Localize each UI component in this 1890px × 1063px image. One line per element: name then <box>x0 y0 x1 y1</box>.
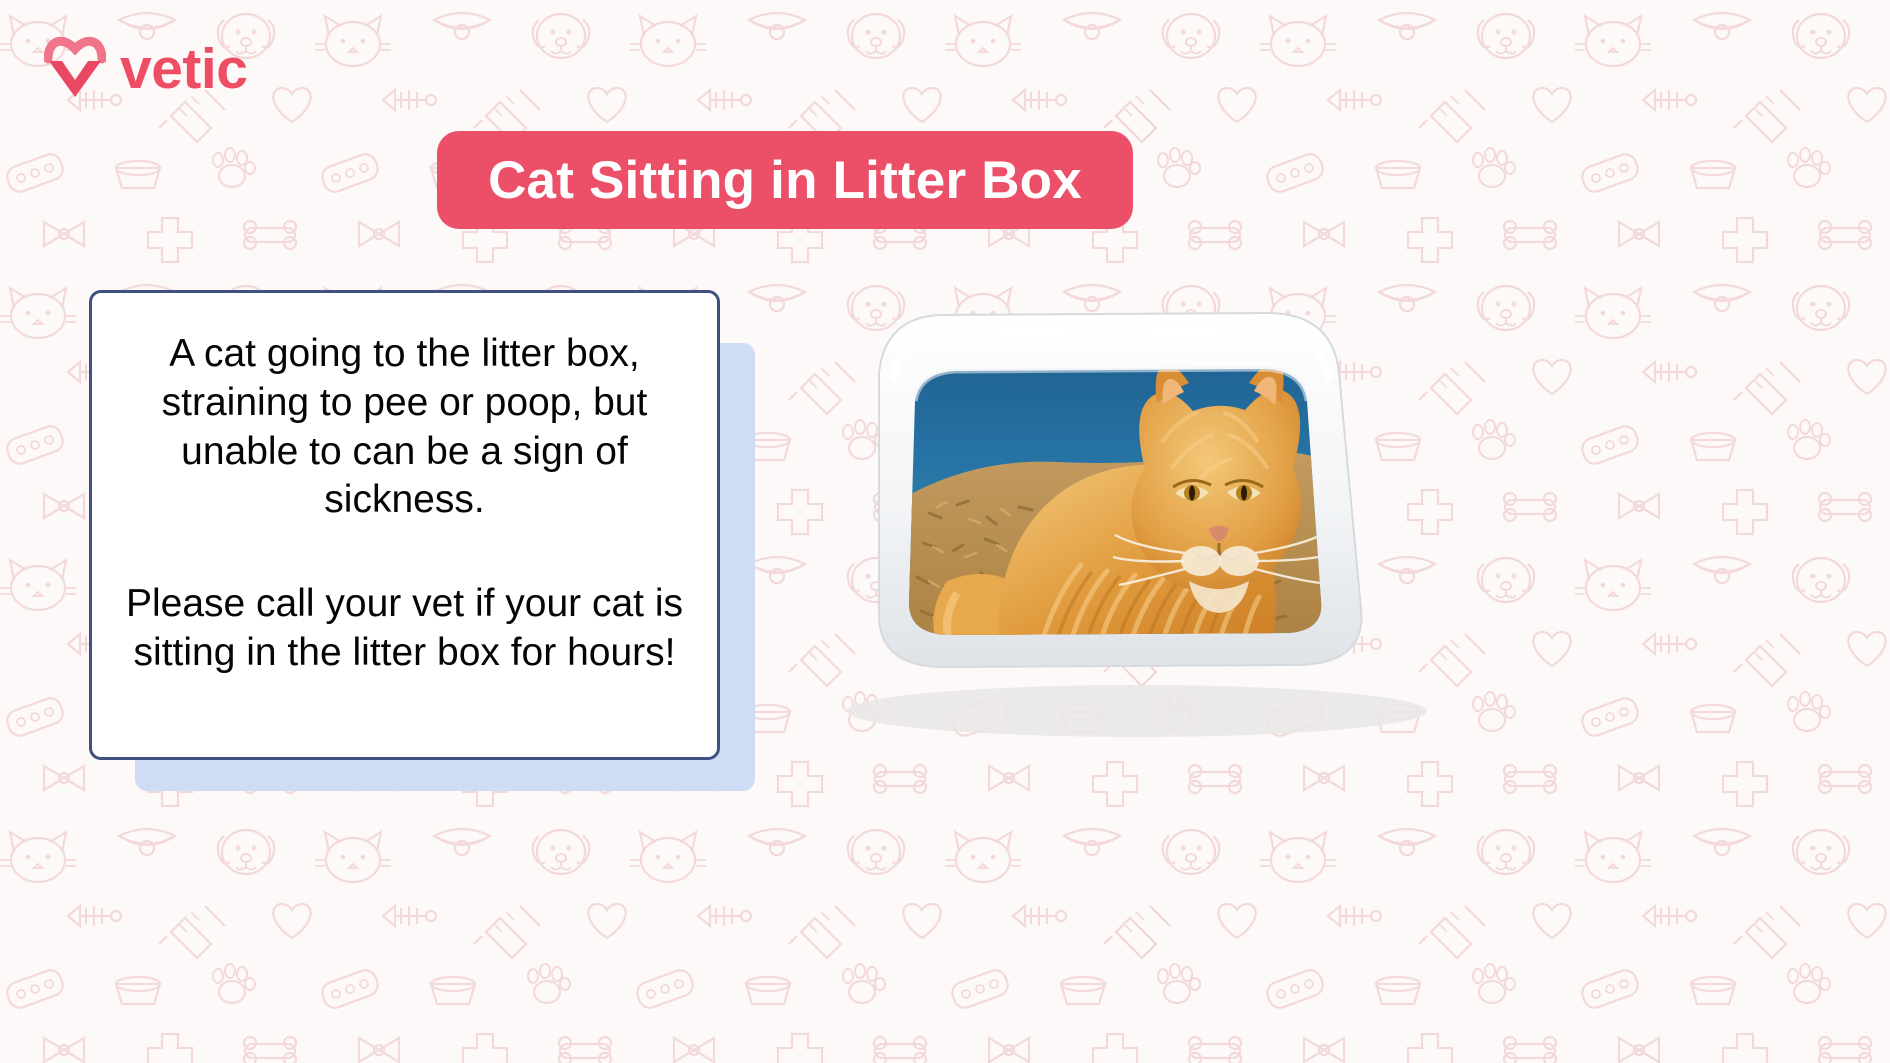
info-paragraph-1: A cat going to the litter box, straining… <box>118 330 691 525</box>
poster-canvas: vetic Cat Sitting in Litter Box A cat go… <box>0 0 1890 1063</box>
vetic-heart-logo-icon <box>44 33 106 99</box>
cat-in-litter-box-photo <box>797 281 1469 751</box>
page-title: Cat Sitting in Litter Box <box>488 154 1082 207</box>
title-banner: Cat Sitting in Litter Box <box>437 131 1133 229</box>
vetic-wordmark: vetic <box>120 41 247 98</box>
info-paragraph-2: Please call your vet if your cat is sitt… <box>118 580 691 678</box>
vetic-logo[interactable]: vetic <box>44 30 247 102</box>
info-card: A cat going to the litter box, straining… <box>89 290 720 760</box>
